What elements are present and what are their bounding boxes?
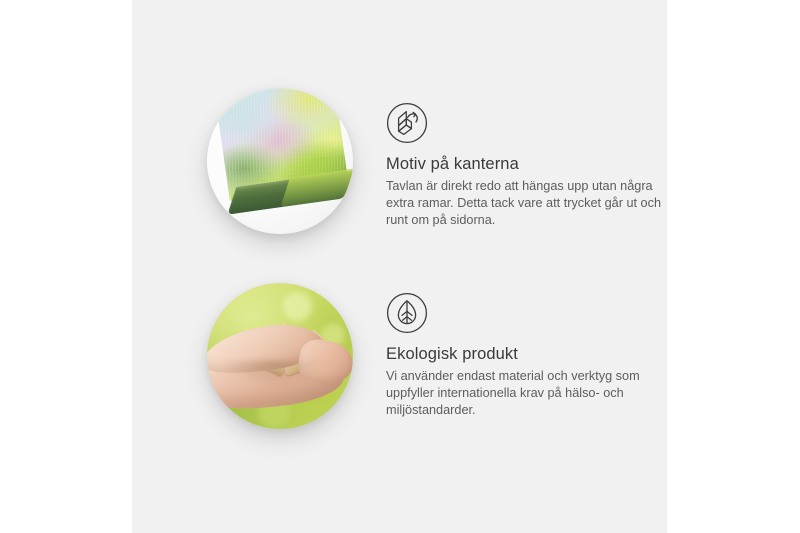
canvas-print-on-white-disc-photo <box>207 88 353 234</box>
feature-title-eco: Ekologisk produkt <box>386 345 518 364</box>
feature-title-edges: Motiv på kanterna <box>386 155 519 174</box>
leaf-icon <box>384 290 430 336</box>
feature-block-edges: Motiv på kanterna Tavlan är direkt redo … <box>132 60 667 260</box>
hand-shadow <box>217 361 327 391</box>
promo-graphic: Motiv på kanterna Tavlan är direkt redo … <box>0 0 800 533</box>
feature-body-edges: Tavlan är direkt redo att hängas upp uta… <box>386 178 666 228</box>
hands-holding-woodchips-photo <box>207 283 353 429</box>
feature-body-eco: Vi använder endast material och verktyg … <box>386 368 666 418</box>
feature-block-eco: Ekologisk produkt Vi använder endast mat… <box>132 255 667 455</box>
canvas-wrapped-edge-icon <box>384 100 430 146</box>
canvas-print <box>214 88 353 222</box>
